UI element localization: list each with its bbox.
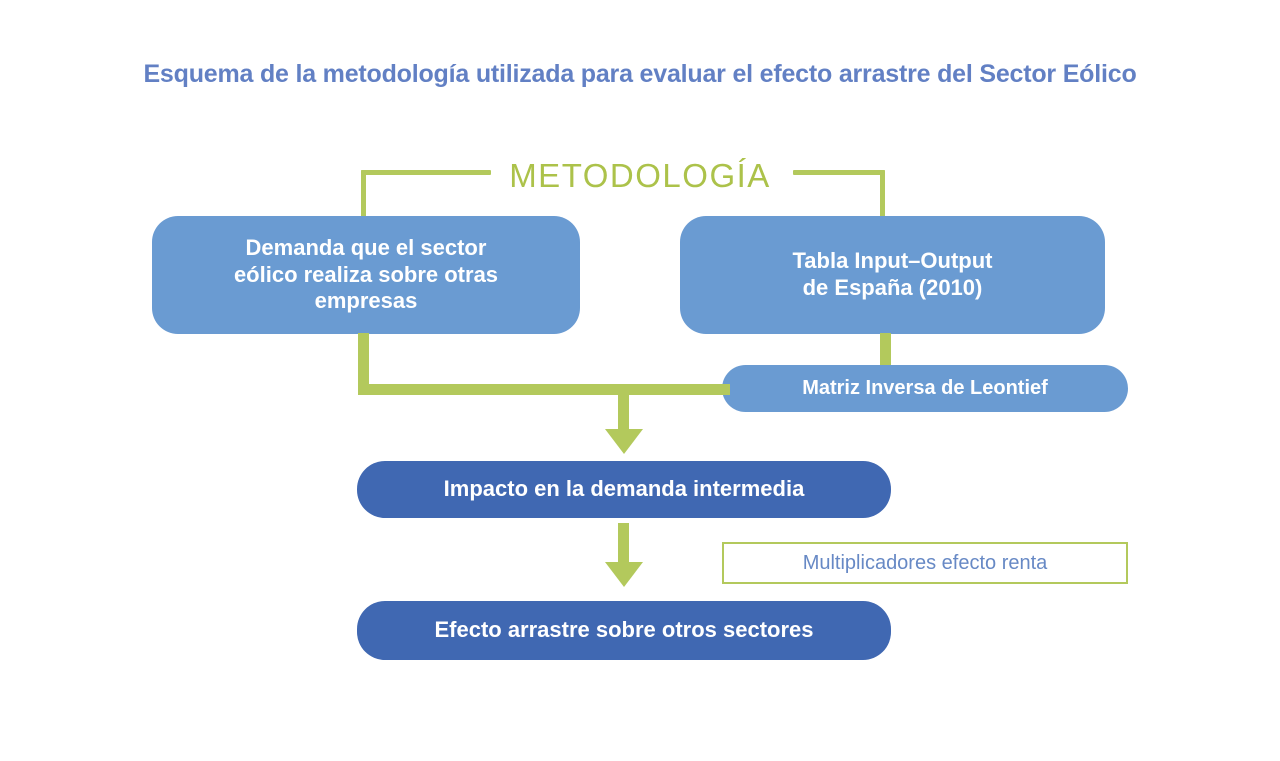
connector-impacto-to-efecto (618, 523, 629, 565)
node-efecto-arrastre[interactable]: Efecto arrastre sobre otros sectores (357, 601, 891, 660)
node-matriz-inversa-leontief[interactable]: Matriz Inversa de Leontief (722, 365, 1128, 412)
methodology-heading: METODOLOGÍA (440, 157, 840, 195)
node-demanda-label: Demanda que el sector eólico realiza sob… (234, 235, 498, 315)
arrow-head-to-impacto (605, 429, 643, 454)
node-multiplicadores-efecto-renta[interactable]: Multiplicadores efecto renta (722, 542, 1128, 584)
node-impacto-label: Impacto en la demanda intermedia (444, 476, 805, 503)
page-title: Esquema de la metodología utilizada para… (0, 60, 1280, 89)
node-efecto-label: Efecto arrastre sobre otros sectores (434, 617, 813, 644)
node-multiplicadores-label: Multiplicadores efecto renta (803, 551, 1048, 575)
connector-horizontal-junction (358, 384, 730, 395)
node-impacto-demanda-intermedia[interactable]: Impacto en la demanda intermedia (357, 461, 891, 518)
connector-junction-to-impacto (618, 384, 629, 432)
diagram-canvas: Esquema de la metodología utilizada para… (0, 0, 1280, 761)
connector-tabla-to-matriz (880, 333, 891, 367)
node-matriz-label: Matriz Inversa de Leontief (802, 376, 1048, 400)
arrow-head-to-efecto (605, 562, 643, 587)
bracket-right-vertical (880, 170, 885, 218)
bracket-left-vertical (361, 170, 366, 218)
node-demanda-sector-eolico[interactable]: Demanda que el sector eólico realiza sob… (152, 216, 580, 334)
node-tabla-input-output[interactable]: Tabla Input–Output de España (2010) (680, 216, 1105, 334)
node-tabla-label: Tabla Input–Output de España (2010) (792, 248, 992, 302)
